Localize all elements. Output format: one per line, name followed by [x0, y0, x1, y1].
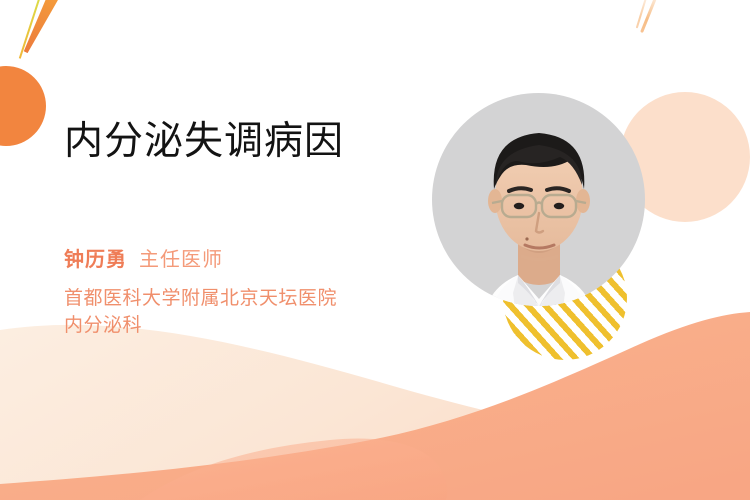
wave-peach-path: [0, 325, 750, 500]
page-title: 内分泌失调病因: [64, 120, 344, 164]
doctor-name: 钟历勇: [64, 249, 127, 271]
doctor-department: 内分泌科: [64, 313, 337, 340]
orange-circle-icon: [0, 66, 46, 146]
doctor-hospital: 首都医科大学附属北京天坛医院: [64, 286, 337, 313]
diagonal-peach-line-b-icon: [636, 0, 650, 28]
doctor-portrait-graphic: [432, 93, 645, 306]
diagonal-peach-line-a-icon: [640, 0, 661, 33]
avatar-disc: [432, 93, 645, 306]
avatar: [432, 93, 645, 306]
diagonal-yellow-line-icon: [19, 0, 43, 59]
doctor-affiliation: 首都医科大学附属北京天坛医院 内分泌科: [64, 286, 337, 340]
doctor-rank: 主任医师: [139, 249, 223, 271]
wave-salmon-path: [0, 312, 750, 500]
poster-canvas: 内分泌失调病因 钟历勇主任医师 首都医科大学附属北京天坛医院 内分泌科: [0, 0, 750, 500]
diagonal-orange-wedge-icon: [20, 0, 64, 55]
wave-salmon-lobe-path: [140, 439, 447, 500]
doctor-byline: 钟历勇主任医师: [64, 250, 223, 270]
outlined-bar-icon: [152, 362, 175, 400]
